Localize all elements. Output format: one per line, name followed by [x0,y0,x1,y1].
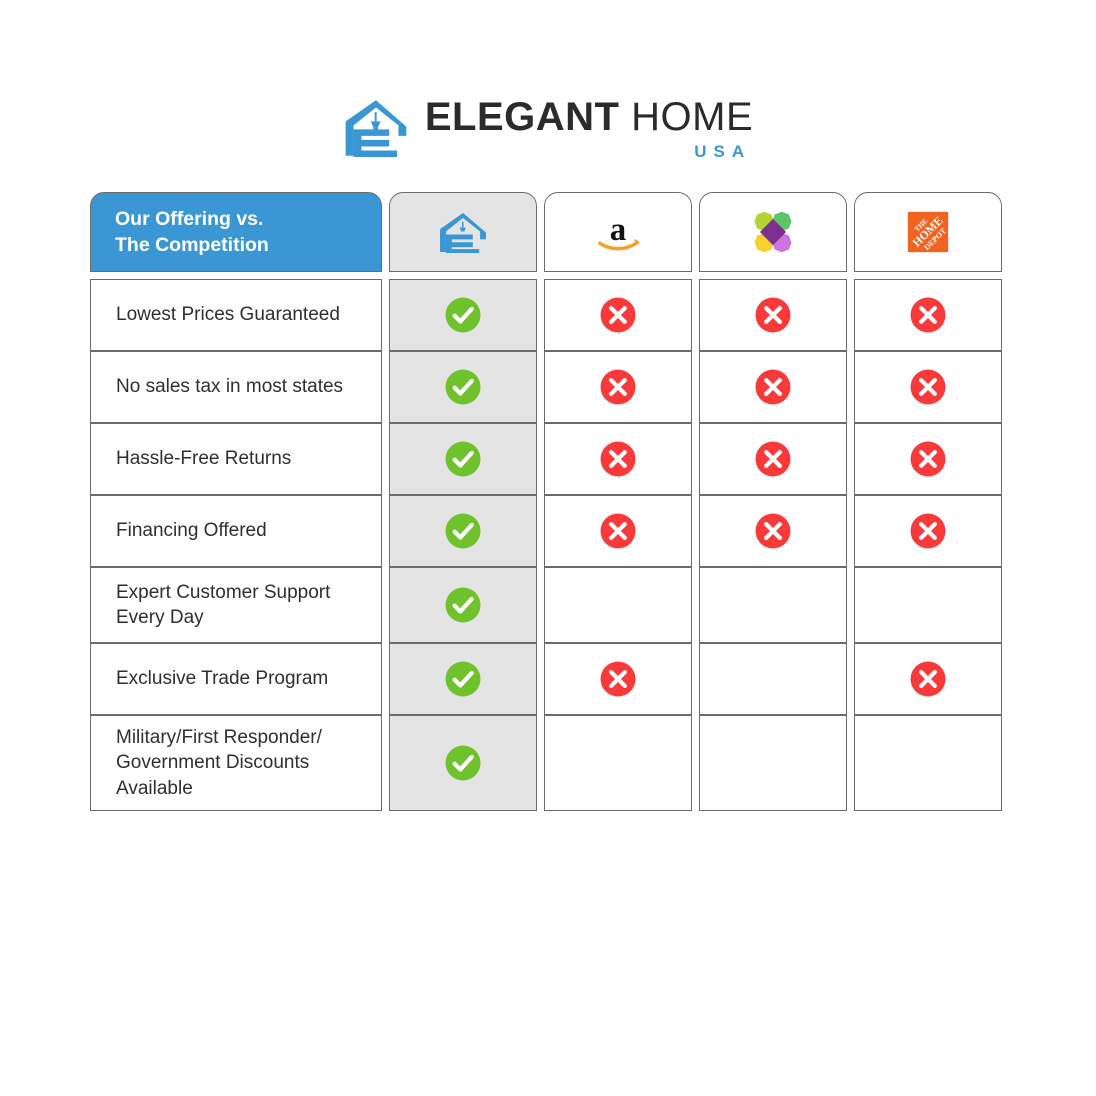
empty-marker [754,744,792,782]
check-icon [444,744,482,782]
table-row: Lowest Prices Guaranteed [90,279,1006,351]
cell-amazon [544,567,692,643]
feature-label-cell: Exclusive Trade Program [90,643,382,715]
cell-wayfair [699,423,847,495]
cell-wayfair [699,715,847,811]
cross-icon [599,368,637,406]
feature-label-cell: Lowest Prices Guaranteed [90,279,382,351]
feature-label-text: Expert Customer Support Every Day [116,580,330,630]
column-header-elegant-home [389,192,537,272]
cell-elegant_home [389,715,537,811]
cross-icon [754,440,792,478]
comparison-infographic: ELEGANT HOME USA Our Offering vs. The Co… [0,0,1096,1096]
table-header-row: Our Offering vs. The Competition a [90,192,1006,272]
cell-wayfair [699,279,847,351]
feature-label-text: Lowest Prices Guaranteed [116,302,340,327]
empty-marker [754,586,792,624]
feature-label-text: Military/First Responder/ Government Dis… [116,725,322,800]
feature-label-cell: Military/First Responder/ Government Dis… [90,715,382,811]
cell-home_depot [854,423,1002,495]
cell-amazon [544,279,692,351]
cross-icon [909,296,947,334]
check-icon [444,512,482,550]
cross-icon [754,512,792,550]
feature-label-text: No sales tax in most states [116,374,343,399]
check-icon [444,440,482,478]
cell-home_depot [854,643,1002,715]
cross-icon [599,660,637,698]
feature-label-cell: Hassle-Free Returns [90,423,382,495]
cell-home_depot [854,567,1002,643]
cross-icon [909,440,947,478]
svg-text:a: a [610,212,626,248]
cell-home_depot [854,279,1002,351]
table-row: Military/First Responder/ Government Dis… [90,715,1006,811]
cross-icon [754,296,792,334]
empty-marker [754,660,792,698]
feature-label-text: Hassle-Free Returns [116,446,291,471]
check-icon [444,368,482,406]
cell-wayfair [699,495,847,567]
table-title-cell: Our Offering vs. The Competition [90,192,382,272]
table-row: Expert Customer Support Every Day [90,567,1006,643]
elegant-home-house-icon [438,211,488,253]
amazon-logo-icon: a [592,211,644,253]
cell-elegant_home [389,495,537,567]
column-header-amazon: a [544,192,692,272]
check-icon [444,660,482,698]
cell-amazon [544,423,692,495]
feature-label-text: Financing Offered [116,518,267,543]
cell-amazon [544,715,692,811]
table-row: Financing Offered [90,495,1006,567]
column-header-home-depot: THE HOME DEPOT [854,192,1002,272]
cross-icon [599,440,637,478]
cross-icon [599,296,637,334]
cell-wayfair [699,351,847,423]
cell-amazon [544,643,692,715]
comparison-table: Our Offering vs. The Competition a [90,192,1006,811]
cell-elegant_home [389,279,537,351]
empty-marker [599,586,637,624]
wayfair-logo-icon [751,210,795,254]
cell-elegant_home [389,567,537,643]
cross-icon [909,512,947,550]
home-depot-logo-icon: THE HOME DEPOT [907,211,949,253]
feature-label-cell: No sales tax in most states [90,351,382,423]
cell-wayfair [699,567,847,643]
empty-marker [599,744,637,782]
cell-elegant_home [389,351,537,423]
cell-amazon [544,351,692,423]
empty-marker [909,744,947,782]
feature-label-cell: Expert Customer Support Every Day [90,567,382,643]
check-icon [444,296,482,334]
cell-amazon [544,495,692,567]
feature-label-text: Exclusive Trade Program [116,666,328,691]
cell-wayfair [699,643,847,715]
table-row: Exclusive Trade Program [90,643,1006,715]
feature-label-cell: Financing Offered [90,495,382,567]
column-header-wayfair [699,192,847,272]
cell-home_depot [854,495,1002,567]
table-title-text: Our Offering vs. The Competition [115,206,269,259]
brand-name-home: HOME [631,95,753,139]
brand-wordmark: ELEGANT HOME USA [425,96,753,160]
brand-name-usa: USA [694,143,751,160]
empty-marker [909,586,947,624]
cell-elegant_home [389,643,537,715]
table-body: Lowest Prices GuaranteedNo sales tax in … [90,279,1006,811]
table-row: Hassle-Free Returns [90,423,1006,495]
cross-icon [599,512,637,550]
cell-elegant_home [389,423,537,495]
cross-icon [909,368,947,406]
cell-home_depot [854,351,1002,423]
cell-home_depot [854,715,1002,811]
table-row: No sales tax in most states [90,351,1006,423]
cross-icon [909,660,947,698]
brand-header: ELEGANT HOME USA [0,88,1096,168]
check-icon [444,586,482,624]
brand-name-elegant: ELEGANT [425,95,620,139]
cross-icon [754,368,792,406]
elegant-home-house-icon [343,95,409,161]
